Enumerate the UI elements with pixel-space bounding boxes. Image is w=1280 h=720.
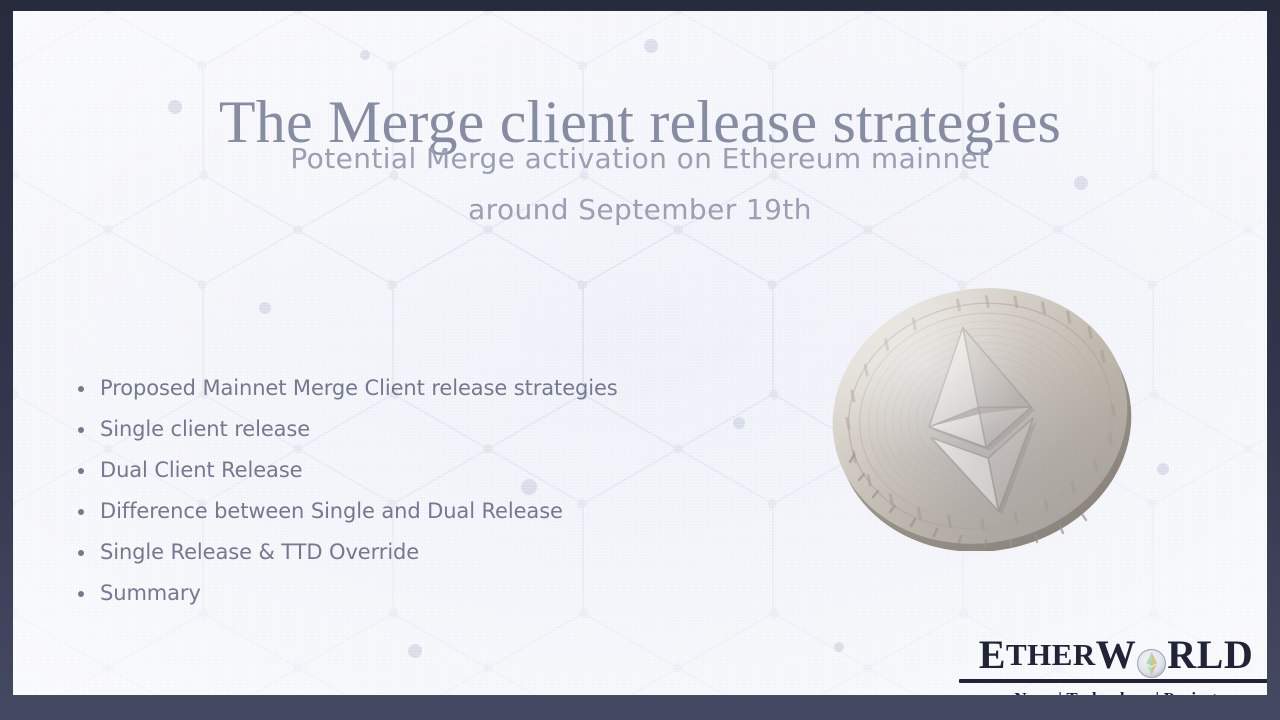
agenda-bullet-list: Proposed Mainnet Merge Client release st… — [71, 369, 711, 615]
logo-letter-e: E — [979, 633, 1006, 677]
etherworld-logo[interactable]: ETHERW — [959, 633, 1267, 695]
logo-ther: THER — [1006, 633, 1096, 677]
list-item: Single client release — [71, 410, 711, 448]
subtitle-line-2: around September 19th — [13, 184, 1267, 235]
logo-letter-w: W — [1096, 633, 1137, 677]
logo-rld: RLD — [1167, 633, 1253, 677]
list-item: Dual Client Release — [71, 451, 711, 489]
slide-subtitle: Potential Merge activation on Ethereum m… — [13, 133, 1267, 235]
logo-divider-rule — [959, 679, 1267, 683]
list-item: Proposed Mainnet Merge Client release st… — [71, 369, 711, 407]
presentation-slide: The Merge client release strategies Pote… — [0, 0, 1280, 720]
list-item: Single Release & TTD Override — [71, 533, 711, 571]
logo-tagline: News | Technology | Project — [959, 689, 1267, 695]
ethereum-diamond-globe-icon — [1137, 643, 1166, 672]
coin-drop-shadow — [842, 319, 1122, 547]
slide-canvas: The Merge client release strategies Pote… — [13, 11, 1267, 695]
subtitle-line-1: Potential Merge activation on Ethereum m… — [13, 133, 1267, 184]
list-item: Summary — [71, 574, 711, 612]
logo-wordmark: ETHERW — [959, 633, 1267, 677]
ethereum-coin-image — [820, 281, 1140, 551]
list-item: Difference between Single and Dual Relea… — [71, 492, 711, 530]
